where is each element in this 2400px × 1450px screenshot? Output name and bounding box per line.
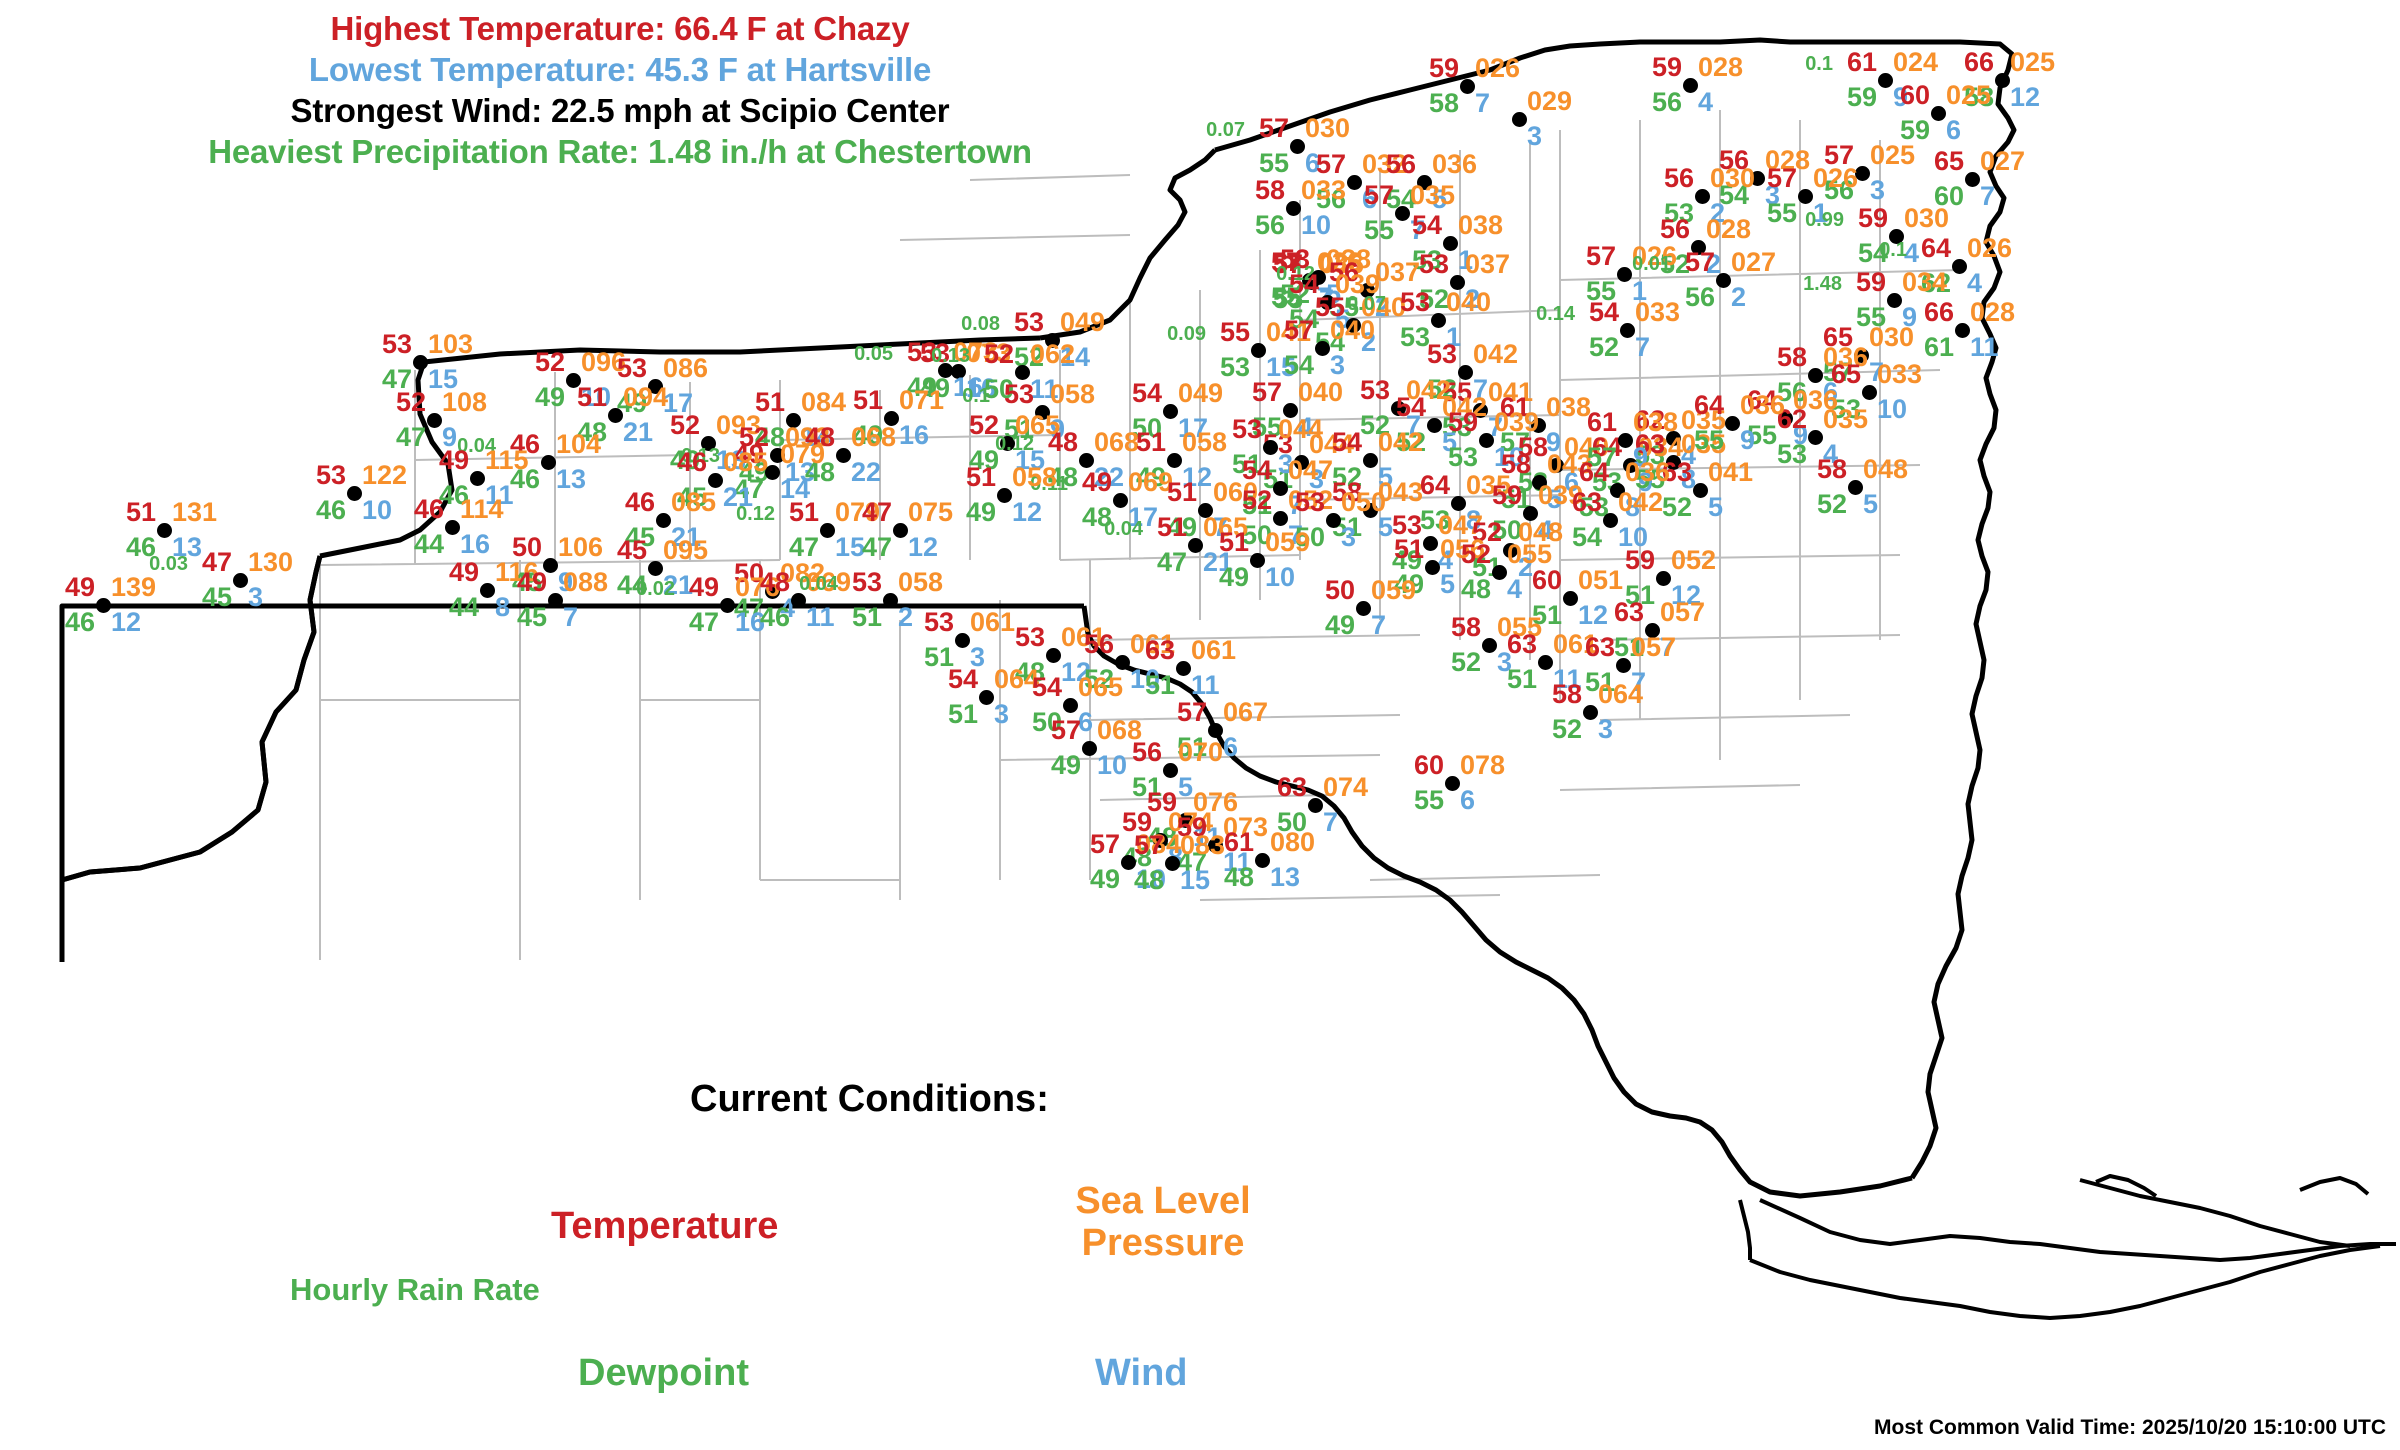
station-dewpoint: 50 <box>1277 809 1307 836</box>
station-dewpoint: 51 <box>1145 672 1175 699</box>
station-temperature: 64 <box>1694 392 1724 419</box>
station-dot-icon <box>1460 79 1475 94</box>
station-temperature: 56 <box>1084 631 1114 658</box>
station-sea-level-pressure: 115 <box>485 447 529 474</box>
station-sea-level-pressure: 071 <box>899 387 944 414</box>
station-wind: 6 <box>1460 787 1475 814</box>
legend-wind-label: Wind <box>1095 1352 1188 1395</box>
station-dot-icon <box>955 633 970 648</box>
station-wind: 11 <box>1191 672 1220 699</box>
station-wind: 12 <box>1578 602 1608 629</box>
station-dewpoint: 52 <box>1817 491 1847 518</box>
station-dot-icon <box>1931 106 1946 121</box>
station-dot-icon <box>1273 511 1288 526</box>
station-precip-rate: 0.14 <box>1536 301 1575 328</box>
station-dot-icon <box>1063 698 1078 713</box>
station-dot-icon <box>1326 513 1341 528</box>
station-sea-level-pressure: 058 <box>1182 429 1227 456</box>
station-temperature: 59 <box>1856 269 1886 296</box>
station-sea-level-pressure: 086 <box>663 355 708 382</box>
station-temperature: 52 <box>535 349 565 376</box>
station-dot-icon <box>1263 440 1278 455</box>
station-sea-level-pressure: 122 <box>362 462 407 489</box>
station-dot-icon <box>1798 189 1813 204</box>
station-temperature: 65 <box>1934 148 1964 175</box>
station-sea-level-pressure: 108 <box>442 389 487 416</box>
station-dewpoint: 49 <box>1051 752 1081 779</box>
station-dewpoint: 52 <box>1589 334 1619 361</box>
station-wind: 16 <box>899 422 929 449</box>
station-sea-level-pressure: 038 <box>1633 409 1678 436</box>
station-wind: 10 <box>1877 396 1907 423</box>
station-sea-level-pressure: 025 <box>2010 49 2055 76</box>
station-sea-level-pressure: 026 <box>1475 55 1520 82</box>
station-temperature: 53 <box>1015 624 1045 651</box>
station-wind: 22 <box>851 459 881 486</box>
long-island-outline <box>1740 1176 2396 1318</box>
station-temperature: 53 <box>382 331 412 358</box>
station-temperature: 59 <box>1625 547 1655 574</box>
station-dot-icon <box>1563 591 1578 606</box>
station-dot-icon <box>1616 658 1631 673</box>
legend-slp-line1: Sea Level <box>1048 1180 1278 1222</box>
station-wind: 21 <box>623 419 653 446</box>
station-sea-level-pressure: 061 <box>970 609 1015 636</box>
station-sea-level-pressure: 059 <box>1265 529 1310 556</box>
station-dot-icon <box>979 690 994 705</box>
station-dewpoint: 52 <box>1451 649 1481 676</box>
station-temperature: 53 <box>1014 309 1044 336</box>
station-temperature: 52 <box>984 341 1014 368</box>
station-dot-icon <box>1716 273 1731 288</box>
station-temperature: 57 <box>1134 832 1164 859</box>
station-temperature: 54 <box>948 666 978 693</box>
station-temperature: 58 <box>1777 344 1807 371</box>
station-dot-icon <box>445 520 460 535</box>
station-temperature: 56 <box>1660 216 1690 243</box>
station-dewpoint: 47 <box>396 424 426 451</box>
station-precip-rate: 0.1 <box>962 383 990 410</box>
station-temperature: 58 <box>1817 456 1847 483</box>
station-dewpoint: 47 <box>1157 549 1187 576</box>
station-sea-level-pressure: 055 <box>1507 541 1552 568</box>
station-sea-level-pressure: 033 <box>1301 177 1346 204</box>
station-sea-level-pressure: 050 <box>1341 489 1386 516</box>
station-temperature: 56 <box>1386 151 1416 178</box>
station-temperature: 66 <box>1924 299 1954 326</box>
station-dot-icon <box>1356 601 1371 616</box>
station-temperature: 64 <box>1420 472 1450 499</box>
station-temperature: 54 <box>1589 299 1619 326</box>
station-sea-level-pressure: 030 <box>1869 324 1914 351</box>
station-dot-icon <box>1618 433 1633 448</box>
station-wind: 15 <box>1180 867 1210 894</box>
station-temperature: 52 <box>670 412 700 439</box>
station-dot-icon <box>820 523 835 538</box>
station-sea-level-pressure: 078 <box>1460 752 1505 779</box>
station-temperature: 63 <box>1145 637 1175 664</box>
station-wind: 11 <box>806 604 835 631</box>
station-dot-icon <box>1695 189 1710 204</box>
station-wind: 6 <box>1223 734 1238 761</box>
strongest-wind-line: Strongest Wind: 22.5 mph at Scipio Cente… <box>0 90 1240 131</box>
station-temperature: 64 <box>1579 459 1609 486</box>
station-wind: 4 <box>1698 89 1713 116</box>
station-dot-icon <box>1656 571 1671 586</box>
station-precip-rate: 0.1 <box>1879 237 1907 264</box>
station-temperature: 52 <box>1242 487 1272 514</box>
station-temperature: 54 <box>1412 212 1442 239</box>
station-dot-icon <box>1952 259 1967 274</box>
station-temperature: 49 <box>449 559 479 586</box>
station-sea-level-pressure: 026 <box>1813 165 1858 192</box>
legend-temperature-label: Temperature <box>551 1205 778 1248</box>
station-sea-level-pressure: 067 <box>1223 699 1268 726</box>
station-temperature: 49 <box>689 574 719 601</box>
station-temperature: 52 <box>1461 541 1491 568</box>
station-temperature: 46 <box>414 496 444 523</box>
station-dot-icon <box>1445 776 1460 791</box>
station-temperature: 57 <box>1767 165 1797 192</box>
station-dot-icon <box>157 523 172 538</box>
station-sea-level-pressure: 033 <box>1635 299 1680 326</box>
station-dot-icon <box>480 583 495 598</box>
station-wind: 5 <box>1708 494 1723 521</box>
station-sea-level-pressure: 079 <box>780 441 825 468</box>
station-dot-icon <box>1492 565 1507 580</box>
station-wind: 2 <box>898 604 913 631</box>
station-dot-icon <box>1250 553 1265 568</box>
station-temperature: 58 <box>1255 177 1285 204</box>
station-temperature: 61 <box>1847 49 1877 76</box>
station-temperature: 53 <box>1427 341 1457 368</box>
station-dot-icon <box>1965 172 1980 187</box>
station-dot-icon <box>1512 112 1527 127</box>
station-temperature: 45 <box>617 537 647 564</box>
station-dot-icon <box>648 561 663 576</box>
legend-slp-line2: Pressure <box>1048 1222 1278 1264</box>
station-wind: 4 <box>1507 576 1522 603</box>
station-dot-icon <box>720 598 735 613</box>
station-dewpoint: 53 <box>1777 441 1807 468</box>
station-temperature: 59 <box>1652 54 1682 81</box>
station-dot-icon <box>1046 648 1061 663</box>
station-temperature: 53 <box>1360 377 1390 404</box>
station-dot-icon <box>1115 655 1130 670</box>
station-temperature: 65 <box>1831 361 1861 388</box>
station-temperature: 53 <box>1004 381 1034 408</box>
station-sea-level-pressure: 084 <box>801 389 846 416</box>
station-sea-level-pressure: 042 <box>1378 429 1423 456</box>
station-dot-icon <box>893 523 908 538</box>
legend-rain-rate-label: Hourly Rain Rate <box>290 1272 540 1308</box>
station-precip-rate: 0.01 <box>1632 251 1671 278</box>
station-temperature: 57 <box>1685 249 1715 276</box>
station-sea-level-pressure: 035 <box>1410 182 1455 209</box>
station-temperature: 50 <box>1325 577 1355 604</box>
station-temperature: 54 <box>1332 429 1362 456</box>
station-temperature: 57 <box>1259 115 1289 142</box>
station-temperature: 59 <box>1858 205 1888 232</box>
station-sea-level-pressure: 074 <box>1323 774 1368 801</box>
station-dot-icon <box>1808 430 1823 445</box>
station-wind: 7 <box>1475 90 1490 117</box>
station-temperature: 48 <box>1048 429 1078 456</box>
station-dewpoint: 49 <box>1325 612 1355 639</box>
station-precip-rate: 0.09 <box>1167 321 1206 348</box>
station-dot-icon <box>1538 655 1553 670</box>
station-dewpoint: 44 <box>414 531 444 558</box>
station-dot-icon <box>1167 453 1182 468</box>
station-temperature: 46 <box>677 449 707 476</box>
station-dewpoint: 53 <box>1448 444 1478 471</box>
station-wind: 8 <box>495 594 510 621</box>
station-temperature: 58 <box>1552 681 1582 708</box>
station-dot-icon <box>427 413 442 428</box>
station-wind: 10 <box>1301 212 1331 239</box>
station-wind: 5 <box>1863 491 1878 518</box>
station-dot-icon <box>1693 483 1708 498</box>
station-sea-level-pressure: 040 <box>1330 317 1375 344</box>
station-dot-icon <box>1163 763 1178 778</box>
station-temperature: 53 <box>316 462 346 489</box>
station-dewpoint: 47 <box>689 609 719 636</box>
station-dewpoint: 55 <box>1414 787 1444 814</box>
station-dot-icon <box>1423 536 1438 551</box>
summary-header: Highest Temperature: 66.4 F at Chazy Low… <box>0 8 1240 172</box>
station-sea-level-pressure: 068 <box>851 424 896 451</box>
station-dot-icon <box>1603 513 1618 528</box>
station-temperature: 58 <box>1451 614 1481 641</box>
station-wind: 10 <box>1097 752 1127 779</box>
station-temperature: 63 <box>1585 634 1615 661</box>
station-dot-icon <box>1725 416 1740 431</box>
station-dewpoint: 56 <box>1652 89 1682 116</box>
station-dot-icon <box>1878 73 1893 88</box>
station-dewpoint: 51 <box>948 701 978 728</box>
station-temperature: 54 <box>1132 380 1162 407</box>
station-temperature: 56 <box>1132 739 1162 766</box>
station-temperature: 64 <box>1921 235 1951 262</box>
station-temperature: 49 <box>65 574 95 601</box>
station-sea-level-pressure: 044 <box>1278 416 1323 443</box>
station-sea-level-pressure: 037 <box>1465 251 1510 278</box>
station-wind: 15 <box>835 534 865 561</box>
station-dewpoint: 48 <box>1224 864 1254 891</box>
station-dewpoint: 47 <box>789 534 819 561</box>
station-temperature: 60 <box>1532 567 1562 594</box>
station-dot-icon <box>413 355 428 370</box>
station-temperature: 49 <box>439 447 469 474</box>
station-sea-level-pressure: 041 <box>1708 459 1753 486</box>
station-temperature: 61 <box>1587 409 1617 436</box>
station-dewpoint: 48 <box>1134 867 1164 894</box>
station-sea-level-pressure: 037 <box>1375 259 1420 286</box>
station-temperature: 52 <box>396 389 426 416</box>
station-sea-level-pressure: 036 <box>1625 459 1670 486</box>
station-temperature: 49 <box>1082 469 1112 496</box>
station-wind: 5 <box>1440 571 1455 598</box>
station-temperature: 54 <box>1396 394 1426 421</box>
station-sea-level-pressure: 095 <box>663 537 708 564</box>
station-sea-level-pressure: 040 <box>1298 379 1343 406</box>
station-sea-level-pressure: 057 <box>1660 599 1705 626</box>
station-temperature: 48 <box>760 569 790 596</box>
station-wind: 3 <box>1527 123 1542 150</box>
station-wind: 13 <box>556 466 586 493</box>
station-dewpoint: 52 <box>1552 716 1582 743</box>
station-dewpoint: 54 <box>1284 352 1314 379</box>
station-dot-icon <box>1862 385 1877 400</box>
station-sea-level-pressure: 028 <box>1698 54 1743 81</box>
station-wind: 7 <box>1371 612 1386 639</box>
station-dot-icon <box>1188 538 1203 553</box>
station-wind: 7 <box>563 604 578 631</box>
station-sea-level-pressure: 058 <box>898 569 943 596</box>
station-temperature: 51 <box>577 384 607 411</box>
station-temperature: 57 <box>1051 717 1081 744</box>
station-dot-icon <box>1995 73 2010 88</box>
station-sea-level-pressure: 065 <box>1078 674 1123 701</box>
station-dot-icon <box>997 488 1012 503</box>
station-sea-level-pressure: 139 <box>111 574 156 601</box>
station-sea-level-pressure: 058 <box>1012 464 1057 491</box>
station-dewpoint: 45 <box>517 604 547 631</box>
station-dot-icon <box>1363 453 1378 468</box>
station-sea-level-pressure: 038 <box>1458 212 1503 239</box>
station-dewpoint: 45 <box>202 584 232 611</box>
station-wind: 9 <box>1740 427 1755 454</box>
station-wind: 7 <box>1635 334 1650 361</box>
station-sea-level-pressure: 094 <box>623 384 668 411</box>
station-temperature: 51 <box>1136 429 1166 456</box>
station-dot-icon <box>1113 493 1128 508</box>
station-sea-level-pressure: 030 <box>1305 115 1350 142</box>
station-temperature: 63 <box>1507 631 1537 658</box>
heaviest-precipitation-line: Heaviest Precipitation Rate: 1.48 in./h … <box>0 131 1240 172</box>
station-dewpoint: 53 <box>1400 324 1430 351</box>
valid-time-footer: Most Common Valid Time: 2025/10/20 15:10… <box>1874 1416 2386 1440</box>
station-dot-icon <box>1315 341 1330 356</box>
station-sea-level-pressure: 103 <box>428 331 473 358</box>
station-wind: 10 <box>362 497 392 524</box>
station-wind: 6 <box>1946 117 1961 144</box>
station-dot-icon <box>1617 267 1632 282</box>
station-dot-icon <box>836 448 851 463</box>
station-precip-rate: 0.07 <box>1347 291 1386 318</box>
station-dot-icon <box>1887 293 1902 308</box>
station-temperature: 49 <box>517 569 547 596</box>
station-sea-level-pressure: 052 <box>1671 547 1716 574</box>
station-temperature: 53 <box>1295 489 1325 516</box>
lowest-temperature-line: Lowest Temperature: 45.3 F at Hartsville <box>0 49 1240 90</box>
station-wind: 12 <box>1012 499 1042 526</box>
station-wind: 2 <box>1731 284 1746 311</box>
station-dot-icon <box>347 486 362 501</box>
station-sea-level-pressure: 034 <box>1902 269 1947 296</box>
station-sea-level-pressure: 104 <box>556 431 601 458</box>
station-dewpoint: 49 <box>966 499 996 526</box>
station-sea-level-pressure: 070 <box>1178 739 1223 766</box>
station-dewpoint: 56 <box>1685 284 1715 311</box>
station-dewpoint: 55 <box>1364 217 1394 244</box>
station-temperature: 57 <box>1586 243 1616 270</box>
station-dot-icon <box>608 408 623 423</box>
station-dot-icon <box>1347 175 1362 190</box>
station-precip-rate: 0.99 <box>1805 207 1844 234</box>
station-precip-rate: 0.04 <box>799 571 838 598</box>
station-dot-icon <box>1308 798 1323 813</box>
station-sea-level-pressure: 036 <box>1740 392 1785 419</box>
highest-temperature-line: Highest Temperature: 66.4 F at Chazy <box>0 8 1240 49</box>
station-wind: 16 <box>460 531 490 558</box>
station-temperature: 53 <box>924 609 954 636</box>
station-dot-icon <box>1255 853 1270 868</box>
station-temperature: 51 <box>1394 536 1424 563</box>
station-wind: 3 <box>1870 177 1885 204</box>
station-precip-rate: 0.12 <box>995 431 1034 458</box>
station-temperature: 54 <box>1032 674 1062 701</box>
station-dot-icon <box>1431 313 1446 328</box>
station-sea-level-pressure: 057 <box>1631 634 1676 661</box>
station-dewpoint: 44 <box>449 594 479 621</box>
station-sea-level-pressure: 058 <box>1050 381 1095 408</box>
station-dewpoint: 49 <box>1090 866 1120 893</box>
station-sea-level-pressure: 027 <box>1980 148 2025 175</box>
legend-sea-level-pressure-label: Sea Level Pressure <box>1048 1180 1278 1264</box>
station-sea-level-pressure: 130 <box>248 549 293 576</box>
station-dewpoint: 54 <box>1572 524 1602 551</box>
station-dot-icon <box>541 455 556 470</box>
station-dewpoint: 46 <box>760 604 790 631</box>
station-sea-level-pressure: 033 <box>1877 361 1922 388</box>
station-dot-icon <box>1165 856 1180 871</box>
station-wind: 13 <box>1270 864 1300 891</box>
station-precip-rate: 0.1 <box>1805 51 1833 78</box>
station-sea-level-pressure: 035 <box>1823 406 1868 433</box>
station-sea-level-pressure: 075 <box>908 499 953 526</box>
station-precip-rate: 0.13 <box>931 343 970 370</box>
station-dot-icon <box>883 593 898 608</box>
station-sea-level-pressure: 114 <box>460 496 504 523</box>
station-dot-icon <box>1251 343 1266 358</box>
station-sea-level-pressure: 088 <box>563 569 608 596</box>
station-precip-rate: 0.04 <box>1104 516 1143 543</box>
station-dewpoint: 58 <box>1429 90 1459 117</box>
station-wind: 11 <box>1970 334 1999 361</box>
station-wind: 12 <box>2010 84 2040 111</box>
station-temperature: 57 <box>1284 317 1314 344</box>
station-dewpoint: 51 <box>1507 666 1537 693</box>
station-sea-level-pressure: 061 <box>1191 637 1236 664</box>
station-temperature: 59 <box>1429 55 1459 82</box>
station-sea-level-pressure: 024 <box>1893 49 1938 76</box>
station-sea-level-pressure: 038 <box>1546 394 1591 421</box>
station-sea-level-pressure: 048 <box>1863 456 1908 483</box>
station-dot-icon <box>1620 323 1635 338</box>
station-sea-level-pressure: 059 <box>1371 577 1416 604</box>
station-dot-icon <box>1482 638 1497 653</box>
station-sea-level-pressure: 083 <box>1180 832 1225 859</box>
station-dot-icon <box>96 598 111 613</box>
station-dewpoint: 51 <box>852 604 882 631</box>
station-temperature: 46 <box>625 489 655 516</box>
station-temperature: 51 <box>1157 514 1187 541</box>
station-dewpoint: 55 <box>1767 200 1797 227</box>
station-sea-level-pressure: 030 <box>1904 205 1949 232</box>
station-sea-level-pressure: 042 <box>1618 489 1663 516</box>
station-wind: 12 <box>908 534 938 561</box>
